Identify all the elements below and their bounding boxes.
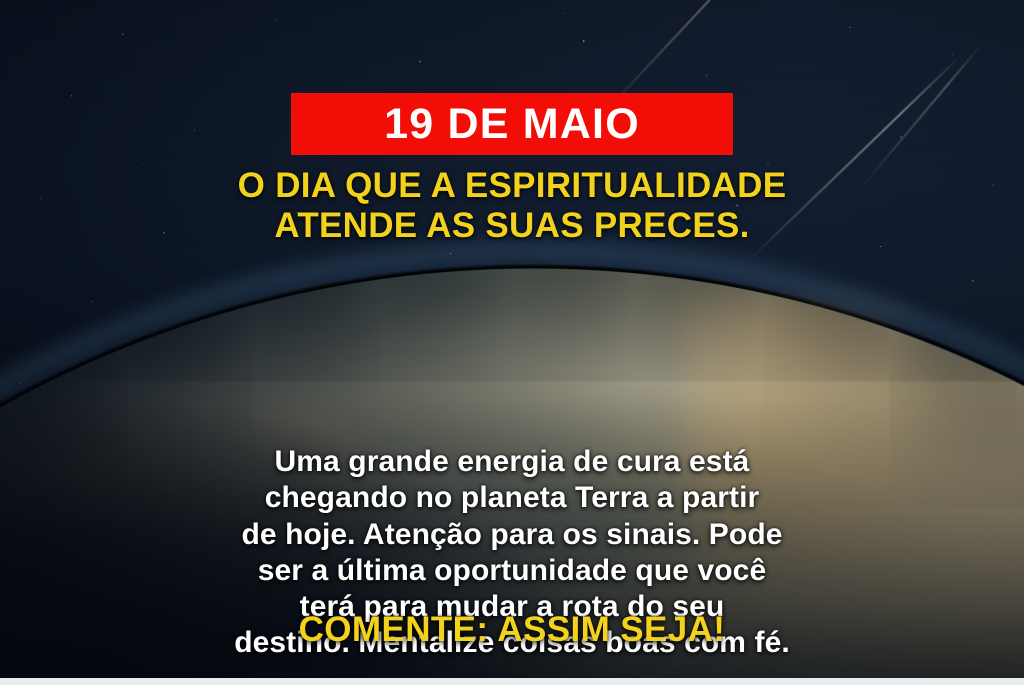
headline-line-2: ATENDE AS SUAS PRECES. xyxy=(274,206,749,245)
body-line: ser a última oportunidade que você xyxy=(48,553,976,589)
body-line: de hoje. Atenção para os sinais. Pode xyxy=(48,517,976,553)
body-line: chegando no planeta Terra a partir xyxy=(48,480,976,516)
poster-content: 19 DE MAIO O DIA QUE A ESPIRITUALIDADE A… xyxy=(0,0,1024,685)
inspirational-poster: 19 DE MAIO O DIA QUE A ESPIRITUALIDADE A… xyxy=(0,0,1024,685)
date-banner-label: 19 DE MAIO xyxy=(384,103,640,146)
page-title: O DIA QUE A ESPIRITUALIDADE ATENDE AS SU… xyxy=(0,166,1024,247)
call-to-action-text: COMENTE: ASSIM SEJA! xyxy=(0,611,1024,650)
headline-line-1: O DIA QUE A ESPIRITUALIDADE xyxy=(238,166,787,205)
date-banner: 19 DE MAIO xyxy=(291,93,733,155)
bottom-edge-strip xyxy=(0,678,1024,685)
body-line: Uma grande energia de cura está xyxy=(48,444,976,480)
